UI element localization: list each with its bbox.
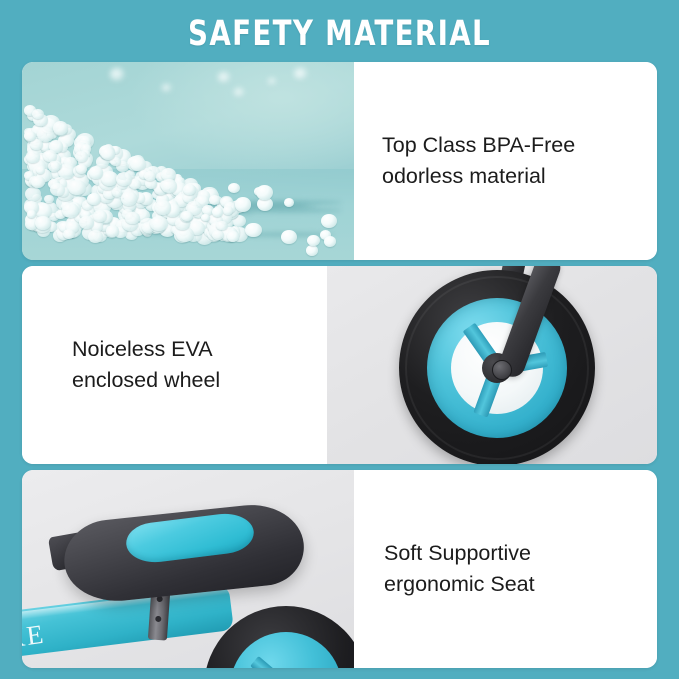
plastic-pellet-bokeh	[110, 68, 124, 81]
feature-caption-wheel: Noiceless EVA enclosed wheel	[22, 334, 327, 396]
plastic-pellet	[216, 221, 227, 231]
rear-hub	[230, 632, 342, 668]
plastic-pellet	[32, 109, 43, 119]
plastic-pellet-loose	[321, 214, 337, 228]
plastic-pellet-loose	[281, 230, 297, 244]
plastic-pellet	[68, 180, 86, 196]
axle-bolt	[492, 360, 512, 380]
feature-image-seat: KE	[22, 470, 354, 668]
feature-text-panel-wheel: Noiceless EVA enclosed wheel	[22, 266, 327, 464]
caption-line-2: enclosed wheel	[72, 365, 307, 396]
feature-row-eva-wheel: Noiceless EVA enclosed wheel	[22, 266, 657, 464]
rear-spoke	[250, 656, 291, 668]
plastic-pellet-bokeh	[294, 68, 307, 80]
plastic-pellet	[101, 171, 118, 186]
plastic-pellet	[88, 230, 103, 243]
plastic-pellet	[24, 131, 36, 141]
plastic-pellet	[76, 164, 87, 173]
caption-line-2: odorless material	[382, 161, 637, 192]
caption-line-1: Top Class BPA-Free	[382, 130, 637, 161]
feature-caption-bpa: Top Class BPA-Free odorless material	[354, 130, 657, 192]
speech-notch-right-icon	[326, 346, 327, 384]
plastic-pellet	[155, 200, 172, 215]
caption-line-1: Noiceless EVA	[72, 334, 307, 365]
plastic-pellet-loose	[212, 207, 223, 216]
speech-notch-left-icon	[354, 550, 355, 588]
frame-logo-text: KE	[22, 619, 47, 655]
plastic-pellet-loose	[235, 197, 252, 212]
speech-notch-left-icon	[354, 142, 355, 180]
plastic-pellet-bokeh	[218, 72, 230, 83]
caption-line-1: Soft Supportive	[384, 538, 637, 569]
plastic-pellet	[25, 187, 41, 201]
plastic-pellet	[212, 230, 223, 240]
plastic-pellet-loose	[324, 236, 336, 246]
plastic-pellet	[125, 212, 139, 225]
plastic-pellet	[79, 216, 94, 229]
plastic-pellet	[63, 229, 75, 239]
infographic-page: SAFETY MATERIAL Top Class BPA-Free odorl…	[0, 0, 679, 679]
feature-image-pellets	[22, 62, 354, 260]
plastic-pellet-loose	[284, 198, 294, 207]
plastic-pellet	[27, 210, 36, 218]
plastic-pellet	[181, 211, 193, 221]
plastic-pellet	[48, 161, 60, 172]
plastic-pellet-bokeh	[162, 84, 171, 92]
plastic-pellet	[223, 206, 233, 215]
feature-text-panel-seat: Soft Supportive ergonomic Seat	[354, 470, 657, 668]
plastic-pellet-bokeh	[234, 88, 244, 97]
feature-row-bpa-free-material: Top Class BPA-Free odorless material	[22, 62, 657, 260]
plastic-pellet	[50, 183, 65, 196]
feature-image-wheel	[327, 266, 657, 464]
page-title: SAFETY MATERIAL	[41, 14, 639, 54]
plastic-pellet	[87, 193, 101, 205]
plastic-pellet	[121, 191, 137, 205]
post-hole	[155, 616, 161, 622]
plastic-pellet-loose	[227, 231, 239, 242]
feature-row-ergonomic-seat: KE Soft Supportive ergonomic Seat	[22, 470, 657, 668]
plastic-pellet	[89, 166, 103, 178]
caption-line-2: ergonomic Seat	[384, 569, 637, 600]
feature-caption-seat: Soft Supportive ergonomic Seat	[354, 538, 657, 600]
plastic-pellet-loose	[228, 183, 240, 193]
feature-text-panel-bpa: Top Class BPA-Free odorless material	[354, 62, 657, 260]
plastic-pellet	[112, 187, 122, 196]
plastic-pellet	[75, 151, 88, 162]
